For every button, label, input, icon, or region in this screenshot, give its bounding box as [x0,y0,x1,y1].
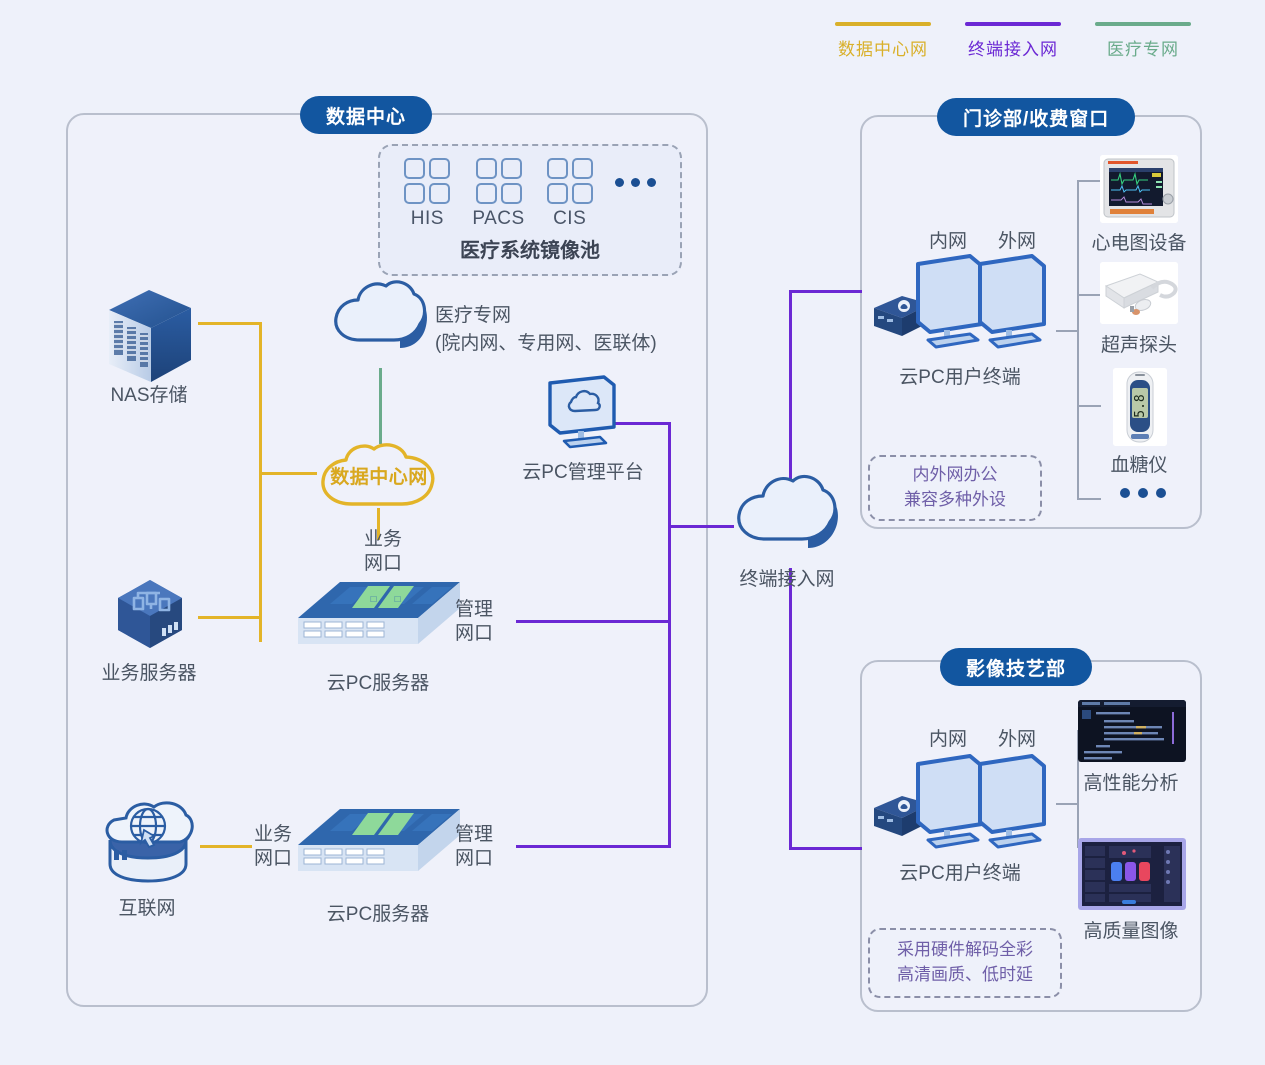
cloudpc-management-platform-label: 云PC管理平台 [522,461,643,485]
imaging-inner-net-label: 内网 [929,728,967,752]
device-tree-spine-outpatient [1077,180,1079,500]
app-grid-icon [476,158,522,204]
device-branch-more [1077,498,1101,500]
legend-color-bar-medical [1095,22,1191,26]
legend-label-medical: 医疗专网 [1107,35,1179,60]
outpatient-inner-net-label: 内网 [929,230,967,254]
line-to-imaging-panel [789,847,862,850]
line-gold-vertical-bus [259,322,262,642]
legend-label-datacenter: 数据中心网 [838,35,928,60]
imaging-note: 采用硬件解码全彩 高清画质、低时延 [868,928,1062,998]
more-devices-ellipsis-icon [1120,488,1166,498]
mirror-pool-app-label: PACS [472,208,524,230]
business-port-label-2: 业务 网口 [254,823,292,871]
mirror-pool-app-pacs: PACS [472,158,524,230]
legend-color-bar-terminal [965,22,1061,26]
high-performance-analysis-icon [1078,700,1186,762]
mirror-pool-app-label: HIS [411,208,444,230]
legend-color-bar-datacenter [835,22,931,26]
app-grid-icon [404,158,450,204]
cloudpc-server-2-label: 云PC服务器 [327,903,429,927]
line-trunk-to-terminal-cloud [668,525,734,528]
management-port-label-2: 管理 网口 [455,823,493,871]
internet-cloud-icon [100,800,196,892]
outpatient-note-line2: 兼容多种外设 [904,488,1006,513]
glucose-meter-label: 血糖仪 [1110,450,1167,477]
panel-badge-datacenter: 数据中心 [300,96,432,134]
terminal-access-net-label: 终端接入网 [739,568,834,592]
medical-system-mirror-pool: HIS PACS CIS 医疗系统镜像池 [378,144,682,276]
mirror-pool-apps: HIS PACS CIS [404,158,655,230]
legend: 数据中心网 终端接入网 医疗专网 [835,22,1191,60]
imaging-terminal-label: 云PC用户终端 [899,862,1020,886]
legend-label-terminal: 终端接入网 [968,35,1058,60]
line-business-server-to-bus [198,616,262,619]
ellipsis-dots-icon [615,178,656,187]
diagram-canvas: 数据中心网 终端接入网 医疗专网 数据中心 门诊部/收费窗口 影像技艺部 HIS… [0,0,1265,1065]
mirror-pool-app-label: CIS [553,208,586,230]
outpatient-note: 内外网办公 兼容多种外设 [868,455,1042,521]
outpatient-note-line1: 内外网办公 [913,463,998,488]
line-server2-mgmt-to-trunk [516,845,671,848]
business-server-label: 业务服务器 [101,662,196,686]
legend-item-medical-private-net: 医疗专网 [1095,22,1191,60]
internet-label: 互联网 [118,897,175,921]
nas-storage-label: NAS存储 [110,384,187,408]
imaging-note-line2: 高清画质、低时延 [897,963,1033,988]
glucose-meter-icon: 5.8 [1113,368,1167,446]
outpatient-outer-net-label: 外网 [998,230,1036,254]
mirror-pool-app-cis: CIS [547,158,593,230]
line-nas-to-bus [198,322,262,325]
line-server1-mgmt-to-trunk [516,620,671,623]
high-quality-image-icon [1078,838,1186,910]
svg-text:☐: ☐ [394,595,401,604]
device-branch-glucose [1077,405,1101,407]
legend-item-datacenter-net: 数据中心网 [835,22,931,60]
high-quality-image-label: 高质量图像 [1083,916,1178,943]
outpatient-cloudpc-terminal-icon [866,240,1056,360]
svg-text:☐: ☐ [370,595,377,604]
medical-private-net-title: 医疗专网 [435,304,511,328]
high-performance-analysis-label: 高性能分析 [1083,768,1178,795]
line-internet-to-server2 [200,845,252,848]
line-to-outpatient-panel [789,290,862,293]
ecg-device-icon [1100,155,1178,223]
panel-badge-outpatient: 门诊部/收费窗口 [937,98,1135,136]
mirror-pool-app-his: HIS [404,158,450,230]
line-terminal-cloud-to-imaging [789,568,792,850]
business-server-icon [104,578,196,660]
ultrasound-probe-label: 超声探头 [1101,330,1177,357]
medical-private-net-cloud-icon [330,276,434,368]
outpatient-terminal-label: 云PC用户终端 [899,366,1020,390]
line-terminal-cloud-to-outpatient [789,290,792,480]
cloudpc-management-platform-icon [546,375,618,453]
cloudpc-server-1-icon: ☐☐ [294,578,464,662]
line-medical-cloud-to-dc-cloud [379,368,382,444]
line-bus-to-dc-cloud [259,472,317,475]
line-platform-to-trunk [613,422,671,425]
legend-item-terminal-access-net: 终端接入网 [965,22,1061,60]
device-tree-stem-outpatient [1056,330,1078,332]
terminal-access-net-cloud-icon [733,470,845,568]
nas-storage-icon [103,288,195,386]
device-tree-stem-imaging [1056,803,1078,805]
line-purple-trunk [668,422,671,847]
imaging-outer-net-label: 外网 [998,728,1036,752]
imaging-cloudpc-terminal-icon [866,740,1056,860]
glucose-reading: 5.8 [1133,394,1148,417]
ecg-device-label: 心电图设备 [1091,228,1186,255]
device-branch-ecg [1077,180,1101,182]
datacenter-net-cloud: 数据中心网 [312,440,446,510]
app-grid-icon [547,158,593,204]
mirror-pool-title: 医疗系统镜像池 [460,234,600,263]
panel-badge-imaging: 影像技艺部 [940,648,1092,686]
business-port-label-1: 业务 网口 [364,528,402,576]
ultrasound-probe-icon [1100,262,1178,324]
medical-private-net-subtitle: (院内网、专用网、医联体) [435,332,657,356]
datacenter-net-cloud-label: 数据中心网 [312,440,446,510]
imaging-note-line1: 采用硬件解码全彩 [897,938,1033,963]
management-port-label-1: 管理 网口 [455,598,493,646]
cloudpc-server-2-icon [294,805,464,889]
device-branch-ultrasound [1077,294,1101,296]
cloudpc-server-1-label: 云PC服务器 [327,672,429,696]
